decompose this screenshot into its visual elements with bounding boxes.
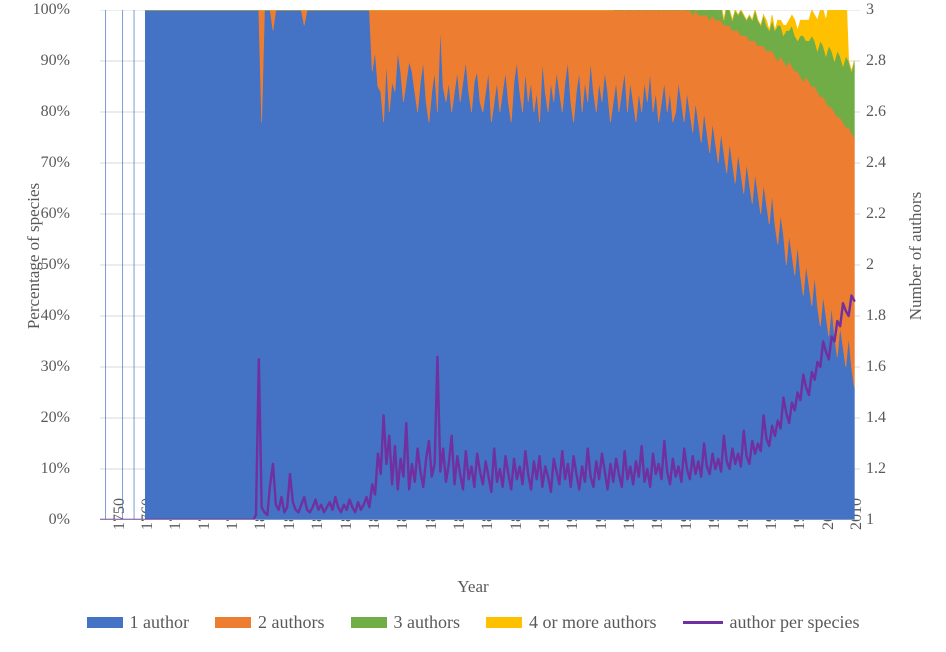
plot-area xyxy=(100,10,860,520)
legend-item[interactable]: 4 or more authors xyxy=(486,612,656,633)
legend-label: 2 authors xyxy=(258,612,325,633)
x-axis-title: Year xyxy=(0,577,946,597)
legend-item[interactable]: 1 author xyxy=(87,612,189,633)
legend-swatch-area xyxy=(351,617,387,628)
legend-swatch-area xyxy=(215,617,251,628)
legend-label: author per species xyxy=(730,612,860,633)
legend-swatch-line xyxy=(683,621,723,624)
legend-label: 3 authors xyxy=(394,612,461,633)
legend-item[interactable]: 2 authors xyxy=(215,612,325,633)
legend-label: 1 author xyxy=(130,612,189,633)
chart-svg xyxy=(100,10,860,520)
authorship-chart: Percentage of species Number of authors … xyxy=(0,0,946,652)
chart-legend: 1 author2 authors3 authors4 or more auth… xyxy=(0,612,946,633)
legend-swatch-area xyxy=(87,617,123,628)
legend-item[interactable]: author per species xyxy=(683,612,860,633)
legend-label: 4 or more authors xyxy=(529,612,656,633)
legend-item[interactable]: 3 authors xyxy=(351,612,461,633)
legend-swatch-area xyxy=(486,617,522,628)
